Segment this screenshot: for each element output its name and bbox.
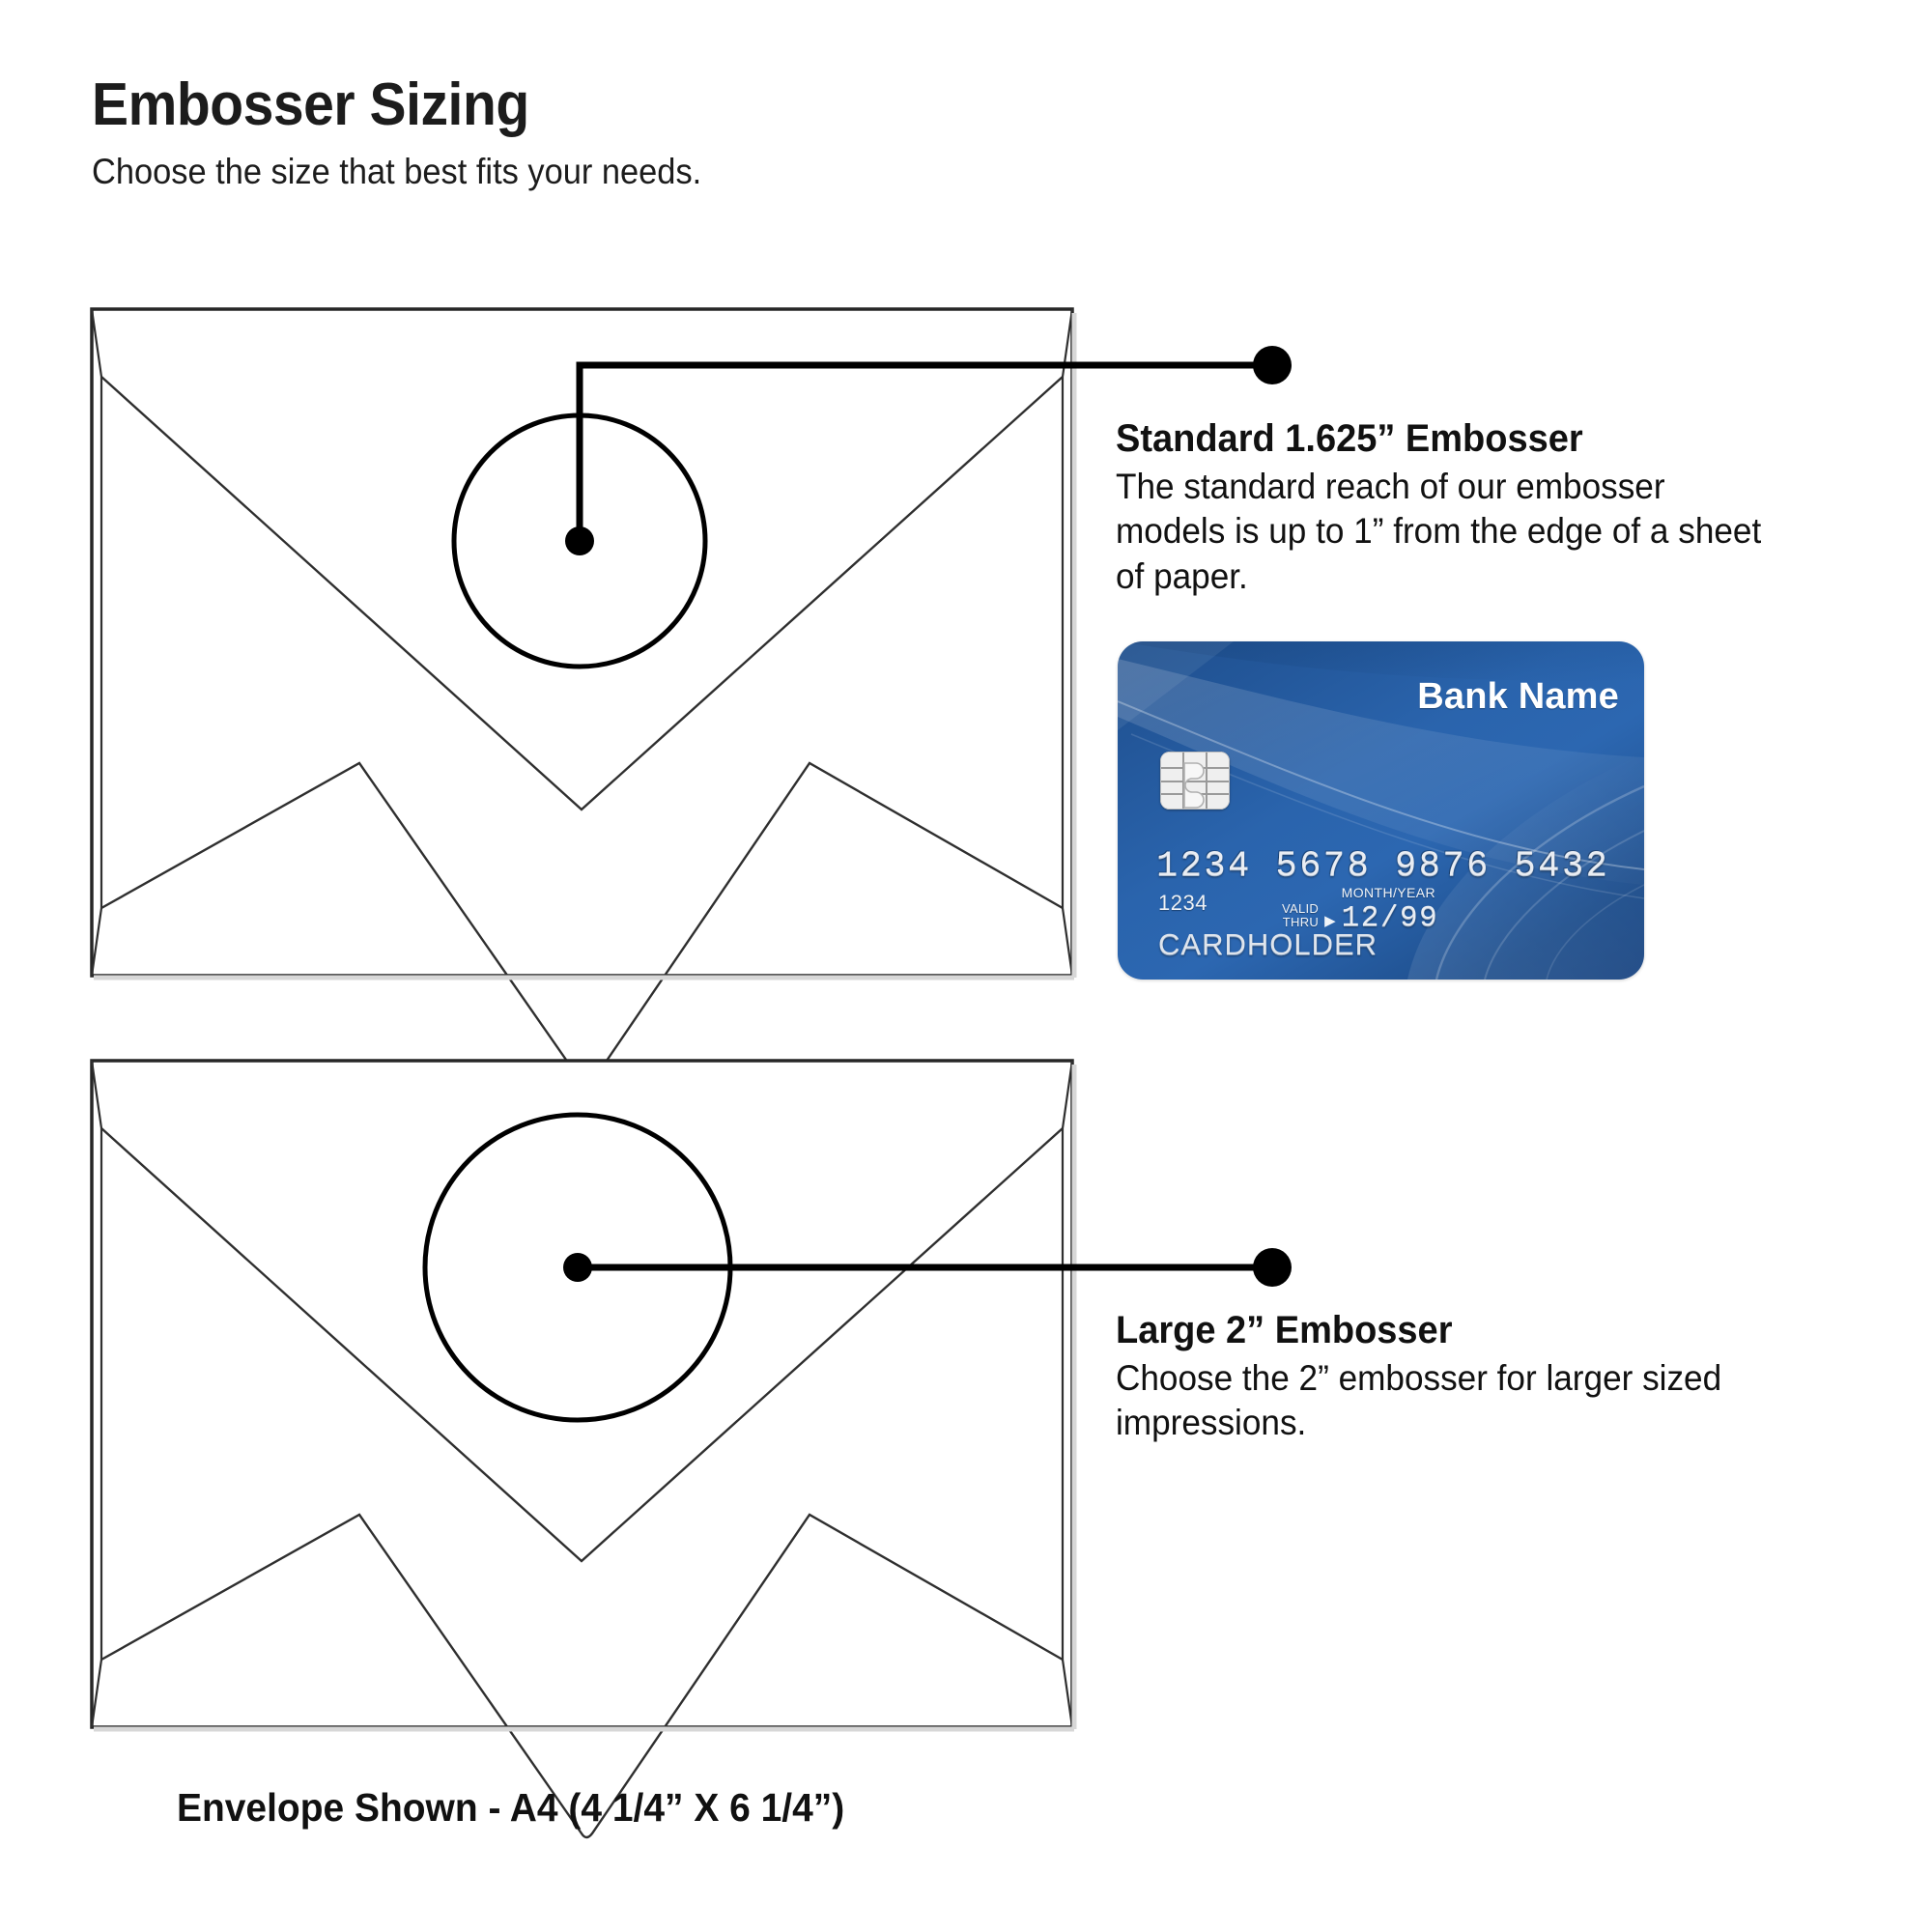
card-holder-name: CARDHOLDER [1158, 927, 1378, 962]
callout-large-embosser: Large 2” Embosser Choose the 2” embosser… [1116, 1309, 1792, 1446]
envelope-standard-right-edge [1063, 309, 1072, 976]
standard-embosser-circle [454, 415, 705, 667]
card-month-year-label: MONTH/YEAR [1342, 885, 1439, 900]
page-subtitle: Choose the size that best fits your need… [92, 153, 1170, 192]
page-header: Embosser Sizing Choose the size that bes… [92, 75, 1251, 192]
envelope-standard-top-flap [101, 377, 1063, 810]
card-number-small: 1234 [1158, 891, 1207, 916]
card-valid-line1: VALID [1282, 902, 1319, 916]
standard-embosser-leader-dot [1253, 346, 1292, 384]
envelope-large [92, 1061, 1074, 1837]
large-embosser-leader-dot [1253, 1248, 1292, 1287]
callout-large-body: Choose the 2” embosser for larger sized … [1116, 1356, 1758, 1446]
standard-embosser-center-dot [565, 526, 594, 555]
card-bank-name: Bank Name [1417, 676, 1619, 718]
large-embosser-circle [425, 1115, 730, 1420]
envelope-large-right-edge [1063, 1061, 1072, 1727]
envelope-standard-bottom-flap [101, 763, 1063, 1086]
callout-standard-embosser: Standard 1.625” Embosser The standard re… [1116, 417, 1811, 600]
large-embosser-center-dot [563, 1253, 592, 1282]
envelope-standard-left-edge [92, 309, 101, 976]
standard-embosser-reach-circle [454, 415, 705, 667]
credit-card-graphic: Bank Name 1234 5678 9876 5432 1234 VALID… [1118, 641, 1644, 980]
callout-large-title: Large 2” Embosser [1116, 1309, 1758, 1352]
envelope-size-caption: Envelope Shown - A4 (4 1/4” X 6 1/4”) [177, 1785, 844, 1831]
card-number: 1234 5678 9876 5432 [1156, 846, 1609, 887]
envelope-standard [92, 309, 1074, 1086]
callout-standard-body: The standard reach of our embosser model… [1116, 465, 1776, 600]
callout-standard-title: Standard 1.625” Embosser [1116, 417, 1776, 461]
large-embosser-leader-line [563, 1248, 1292, 1287]
large-embosser-reach-circle [425, 1115, 730, 1420]
envelope-large-top-flap [101, 1128, 1063, 1561]
envelope-large-body [92, 1061, 1072, 1727]
envelope-standard-body [92, 309, 1072, 976]
envelope-large-left-edge [92, 1061, 101, 1727]
emv-chip-icon [1160, 752, 1230, 810]
page-title: Embosser Sizing [92, 75, 1158, 135]
